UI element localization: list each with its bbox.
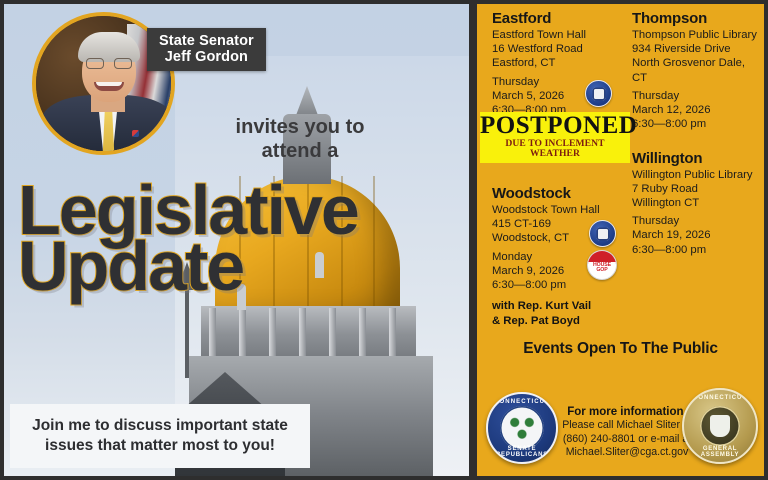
event-with-line-1: with Rep. Kurt Vail bbox=[492, 299, 622, 314]
event-town: Thompson bbox=[632, 10, 760, 27]
contact-heading: For more information, bbox=[561, 406, 693, 418]
event-city: North Grosvenor Dale, CT bbox=[632, 56, 760, 84]
event-day: Thursday bbox=[632, 89, 760, 103]
senate-republicans-seal-icon: CONNECTICUT SENATE REPUBLICANS bbox=[486, 392, 558, 464]
join-line-1: Join me to discuss important state bbox=[20, 416, 300, 435]
event-town: Willington bbox=[632, 150, 760, 167]
join-line-2: issues that matter most to you! bbox=[20, 436, 300, 455]
event-time: 6:30—8:00 pm bbox=[632, 243, 760, 257]
event-day: Thursday bbox=[632, 214, 760, 228]
footer: CONNECTICUT SENATE REPUBLICANS For more … bbox=[477, 384, 764, 470]
left-panel: State Senator Jeff Gordon invites you to… bbox=[4, 4, 469, 476]
event-street: 7 Ruby Road bbox=[632, 182, 760, 196]
event-venue: Thompson Public Library bbox=[632, 28, 760, 42]
event-town: Woodstock bbox=[492, 185, 622, 202]
event-date: March 19, 2026 bbox=[632, 228, 760, 242]
postponed-label: POSTPONED bbox=[480, 114, 630, 139]
contact-info: For more information, Please call Michae… bbox=[561, 406, 693, 460]
event-city: Eastford, CT bbox=[492, 56, 622, 70]
senate-seal-bottom-text: SENATE REPUBLICANS bbox=[488, 446, 556, 458]
nameplate-title: State Senator bbox=[159, 33, 254, 49]
headline-line-2: Update bbox=[18, 236, 448, 296]
event-street: 934 Riverside Drive bbox=[632, 42, 760, 56]
contact-line-1: Please call Michael Sliter at bbox=[561, 419, 693, 433]
events-open-notice: Events Open To The Public bbox=[477, 340, 764, 358]
general-assembly-seal-icon: CONNECTICUT GENERAL ASSEMBLY bbox=[682, 388, 758, 464]
event-city: Willington CT bbox=[632, 196, 760, 210]
event-street: 16 Westford Road bbox=[492, 42, 622, 56]
event-with-line-2: & Rep. Pat Boyd bbox=[492, 314, 622, 329]
event-town: Eastford bbox=[492, 10, 622, 27]
house-gop-logo-icon: HOUSE GOP bbox=[587, 250, 617, 280]
ct-state-seal-icon bbox=[589, 220, 616, 247]
event-thompson: Thompson Thompson Public Library 934 Riv… bbox=[632, 10, 760, 132]
flag-lapel-pin bbox=[132, 130, 139, 137]
event-time: 6:30—8:00 pm bbox=[492, 278, 622, 292]
assembly-seal-bottom-text: GENERAL ASSEMBLY bbox=[684, 446, 756, 458]
contact-phone: (860) 240-8801 or e-mail at bbox=[561, 433, 693, 447]
event-time: 6:30—8:00 pm bbox=[632, 117, 760, 131]
invitation-text: invites you to attend a bbox=[200, 116, 400, 163]
event-willington: Willington Willington Public Library 7 R… bbox=[632, 150, 760, 257]
event-venue: Eastford Town Hall bbox=[492, 28, 622, 42]
invitation-line-1: invites you to bbox=[200, 116, 400, 140]
nameplate-name: Jeff Gordon bbox=[159, 49, 254, 65]
invitation-line-2: attend a bbox=[200, 140, 400, 164]
event-venue: Woodstock Town Hall bbox=[492, 203, 622, 217]
flyer-root: State Senator Jeff Gordon invites you to… bbox=[0, 0, 768, 480]
events-panel: Eastford Eastford Town Hall 16 Westford … bbox=[477, 4, 764, 476]
join-message: Join me to discuss important state issue… bbox=[10, 404, 310, 468]
page-title: Legislative Update bbox=[18, 180, 448, 296]
eyeglasses-icon bbox=[86, 58, 132, 69]
contact-email[interactable]: Michael.Sliter@cga.ct.gov bbox=[561, 446, 693, 460]
senator-nameplate: State Senator Jeff Gordon bbox=[147, 28, 266, 71]
postponed-reason: DUE TO INCLEMENT WEATHER bbox=[480, 139, 630, 160]
senate-seal-top-text: CONNECTICUT bbox=[488, 399, 556, 405]
events-column-right: Thompson Thompson Public Library 934 Riv… bbox=[632, 10, 760, 257]
postponed-banner: POSTPONED DUE TO INCLEMENT WEATHER bbox=[480, 112, 630, 163]
events-column-left: Eastford Eastford Town Hall 16 Westford … bbox=[492, 10, 622, 329]
event-venue: Willington Public Library bbox=[632, 168, 760, 182]
event-date: March 12, 2026 bbox=[632, 103, 760, 117]
assembly-seal-top-text: CONNECTICUT bbox=[684, 395, 756, 401]
gop-line-2: GOP bbox=[588, 268, 616, 273]
ct-state-seal-icon bbox=[585, 80, 612, 107]
